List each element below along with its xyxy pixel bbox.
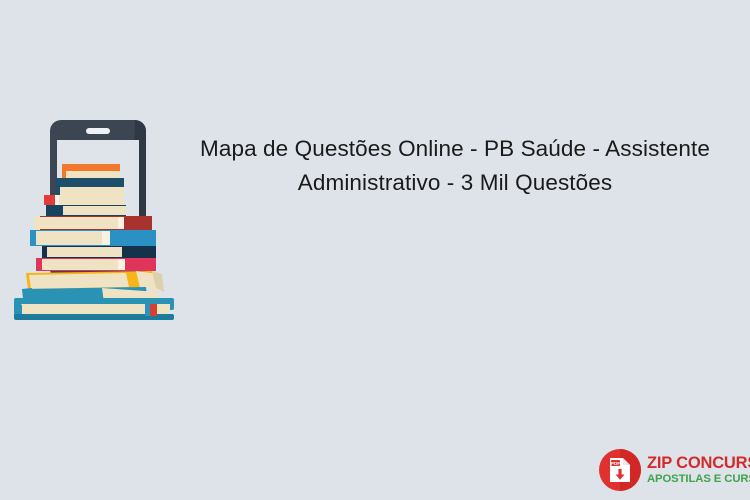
logo-wordmark: ZIP CONCURSOS APOSTILAS E CURSOS <box>647 455 750 486</box>
book-orange-top <box>62 164 120 178</box>
book-red-upper <box>44 195 124 205</box>
book-maroon-middle <box>34 216 152 230</box>
book-pink-lower <box>36 258 156 271</box>
book-navy-upper <box>56 178 124 195</box>
logo-brand-name: ZIP CONCURSOS <box>647 455 750 472</box>
title-line-2: Administrativo - 3 Mil Questões <box>162 166 748 200</box>
book-navy-lower <box>42 246 156 258</box>
books-and-phone-illustration <box>6 118 186 323</box>
title-line-1: Mapa de Questões Online - PB Saúde - Ass… <box>162 132 748 166</box>
banner-title: Mapa de Questões Online - PB Saúde - Ass… <box>162 132 748 200</box>
promo-banner: Mapa de Questões Online - PB Saúde - Ass… <box>0 0 750 500</box>
book-base-bottom <box>14 298 174 320</box>
pdf-download-icon: PDF <box>598 448 642 492</box>
logo-tagline: APOSTILAS E CURSOS <box>647 473 750 486</box>
book-darkteal-upper <box>46 205 126 216</box>
brand-logo[interactable]: PDF ZIP CONCURSOS APOSTILAS E CURSOS <box>598 446 738 494</box>
book-blue-middle <box>30 230 156 246</box>
svg-text:PDF: PDF <box>611 461 620 466</box>
